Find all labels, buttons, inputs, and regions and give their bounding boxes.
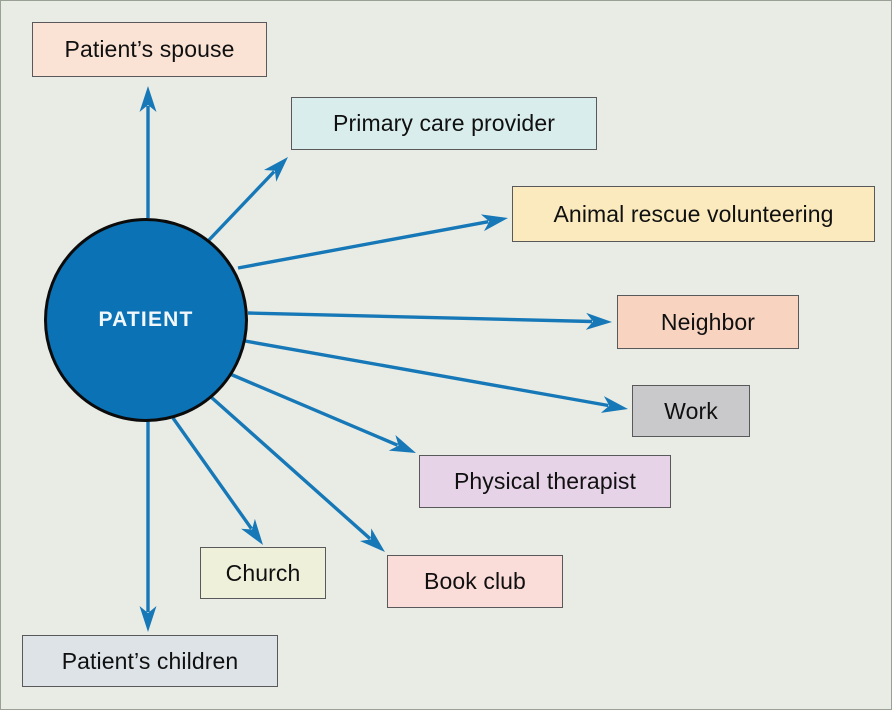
diagram-canvas: PATIENT Patient’s spousePrimary care pro… bbox=[0, 0, 892, 710]
hub-node-label: PATIENT bbox=[98, 308, 193, 332]
edge-to-animal-rescue-volunteering bbox=[238, 214, 508, 268]
node-primary-care-provider[interactable]: Primary care provider bbox=[291, 97, 597, 150]
node-label-book-club: Book club bbox=[424, 570, 526, 593]
edge-to-book-club bbox=[211, 397, 385, 552]
edge-to-physical-therapist bbox=[230, 374, 416, 453]
edge-to-church bbox=[173, 418, 263, 545]
node-neighbor[interactable]: Neighbor bbox=[617, 295, 799, 349]
edge-to-patients-spouse bbox=[140, 86, 157, 218]
edge-to-primary-care-provider bbox=[209, 157, 288, 240]
node-label-work: Work bbox=[664, 400, 718, 423]
node-label-church: Church bbox=[226, 562, 301, 585]
edge-to-work bbox=[245, 341, 628, 413]
node-label-animal-rescue-volunteering: Animal rescue volunteering bbox=[553, 203, 833, 226]
node-patients-children[interactable]: Patient’s children bbox=[22, 635, 278, 687]
node-label-patients-children: Patient’s children bbox=[62, 650, 239, 673]
node-animal-rescue-volunteering[interactable]: Animal rescue volunteering bbox=[512, 186, 875, 242]
node-church[interactable]: Church bbox=[200, 547, 326, 599]
node-label-patients-spouse: Patient’s spouse bbox=[65, 38, 235, 61]
node-work[interactable]: Work bbox=[632, 385, 750, 437]
edge-to-patients-children bbox=[140, 421, 157, 632]
node-label-primary-care-provider: Primary care provider bbox=[333, 112, 555, 135]
edge-to-neighbor bbox=[248, 313, 612, 330]
node-patients-spouse[interactable]: Patient’s spouse bbox=[32, 22, 267, 77]
node-label-physical-therapist: Physical therapist bbox=[454, 470, 636, 493]
node-label-neighbor: Neighbor bbox=[661, 311, 755, 334]
hub-node-patient[interactable]: PATIENT bbox=[44, 218, 248, 422]
node-book-club[interactable]: Book club bbox=[387, 555, 563, 608]
node-physical-therapist[interactable]: Physical therapist bbox=[419, 455, 671, 508]
